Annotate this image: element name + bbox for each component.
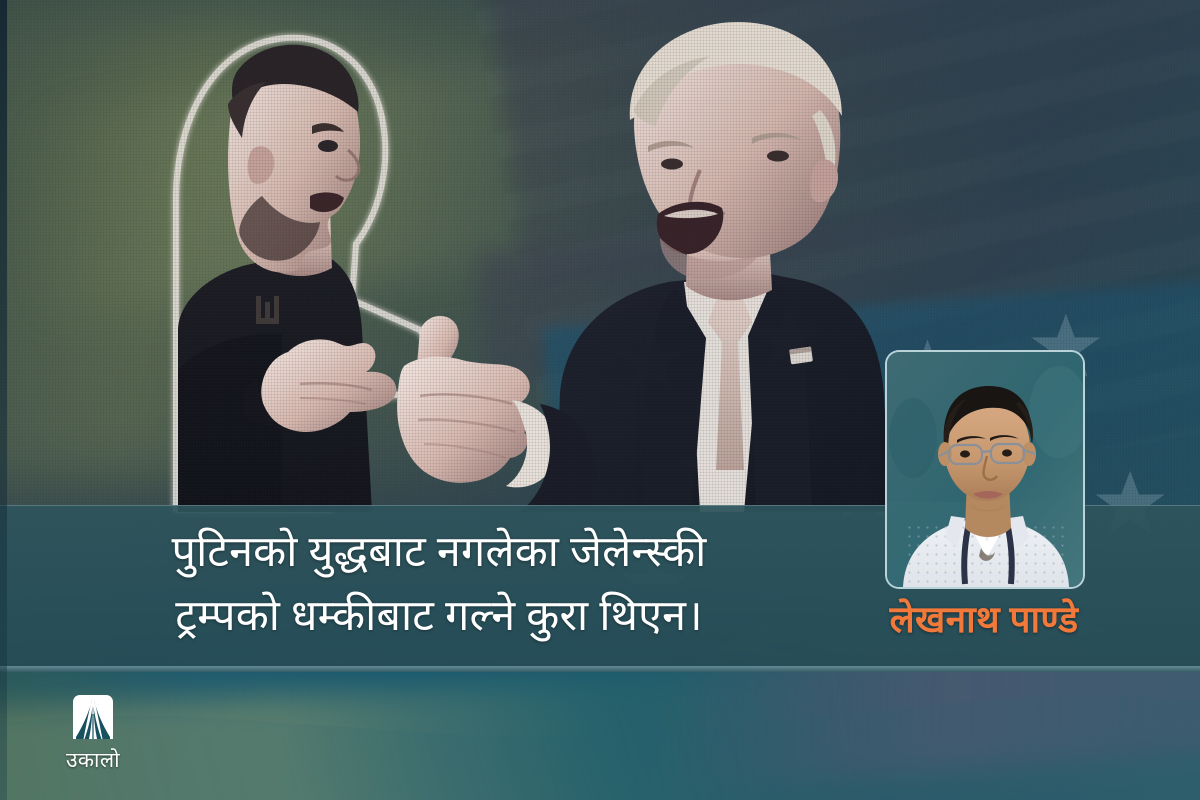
author-photo <box>887 352 1083 587</box>
brand-logo[interactable]: उकालो <box>45 692 141 774</box>
headline-line-1: पुटिनको युद्धबाट नगलेका जेलेन्स्की <box>34 521 844 585</box>
headline: पुटिनको युद्धबाट नगलेका जेलेन्स्की ट्रम्… <box>34 521 844 648</box>
opinion-card: पुटिनको युद्धबाट नगलेका जेलेन्स्की ट्रम्… <box>0 0 1200 800</box>
brand-wordmark: उकालो <box>45 746 141 774</box>
headline-line-2: ट्रम्पको धम्कीबाट गल्ने कुरा थिएन। <box>34 585 844 649</box>
ukaalo-uphill-road-mark-icon <box>70 692 116 742</box>
author-portrait <box>887 352 1083 587</box>
author-name: लेखनाथ पाण्डे <box>845 592 1123 643</box>
author-photo-frame <box>885 350 1085 589</box>
left-edge-strip <box>0 0 7 800</box>
